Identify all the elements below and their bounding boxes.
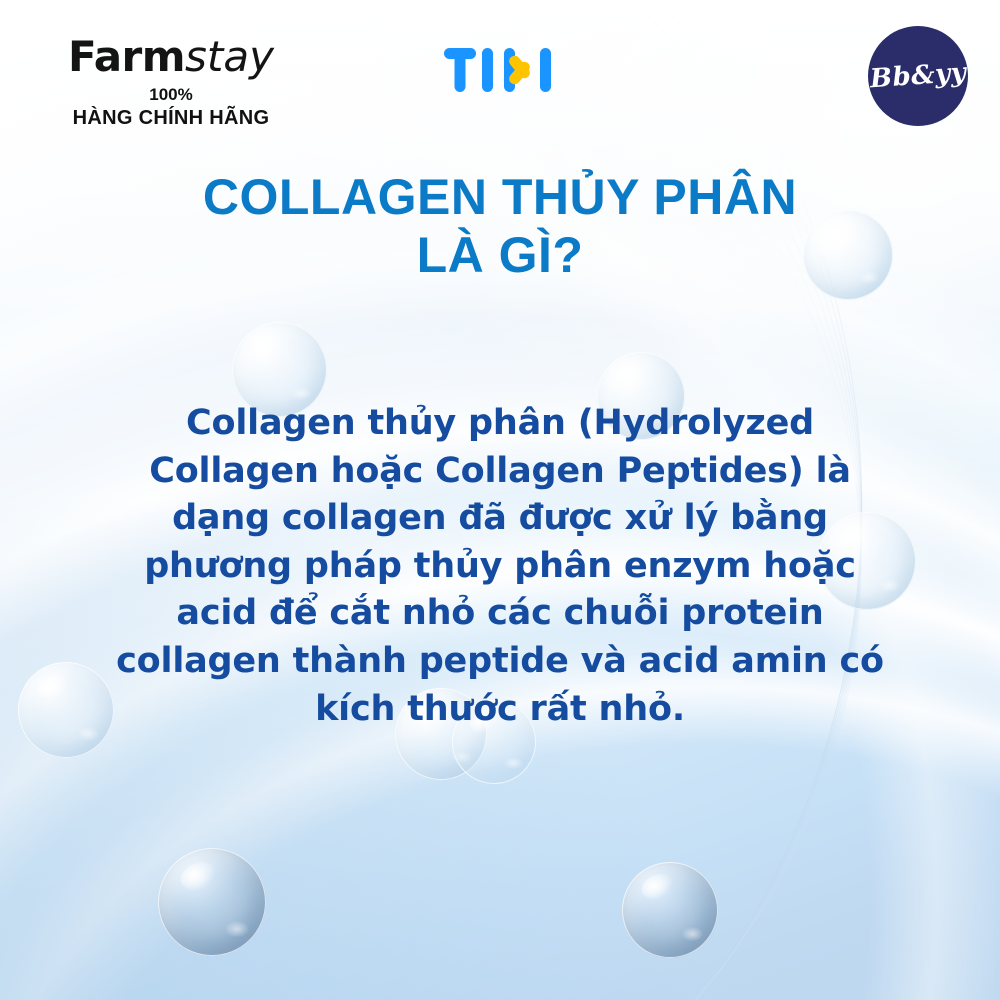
bubble-body-icon (158, 848, 266, 956)
bbyy-logo: Bb&yy (868, 26, 968, 126)
bubble-highlight-icon (176, 857, 220, 895)
bubble-rim-icon (622, 862, 718, 958)
farmstay-word-farm: Farm (68, 32, 185, 81)
body-line-3: dạng collagen đã được xử lý bằng (110, 495, 890, 543)
farmstay-subtitle: HÀNG CHÍNH HÃNG (36, 108, 306, 128)
header-logos: Farmstay 100% HÀNG CHÍNH HÃNG Bb&yy (0, 0, 1000, 150)
bubble-secondary-highlight-icon (452, 751, 472, 764)
farmstay-wordmark: Farmstay (36, 36, 306, 78)
poster-canvas: Farmstay 100% HÀNG CHÍNH HÃNG Bb&yy (0, 0, 1000, 1000)
page-title: COLLAGEN THỦY PHÂN LÀ GÌ? (0, 168, 1000, 284)
bubble-highlight-icon (248, 330, 286, 363)
bubble-secondary-highlight-icon (225, 921, 249, 936)
farmstay-percent: 100% (36, 86, 306, 103)
bubble-secondary-highlight-icon (682, 927, 703, 940)
page-title-line-2: LÀ GÌ? (0, 226, 1000, 284)
bubble-rim-icon (158, 848, 266, 956)
decorative-bubble-8 (622, 862, 718, 958)
page-title-line-1: COLLAGEN THỦY PHÂN (0, 168, 1000, 226)
body-line-2: Collagen hoặc Collagen Peptides) là (110, 448, 890, 496)
body-line-6: collagen thành peptide và acid amin có (110, 638, 890, 686)
bubble-secondary-highlight-icon (504, 757, 522, 769)
body-line-7: kích thước rất nhỏ. (110, 686, 890, 734)
body-line-4: phương pháp thủy phân enzym hoặc (110, 543, 890, 591)
bubble-body-icon (622, 862, 718, 958)
bubble-highlight-icon (612, 359, 648, 390)
body-line-5: acid để cắt nhỏ các chuỗi protein (110, 590, 890, 638)
decorative-bubble-7 (158, 848, 266, 956)
tiki-logo (444, 48, 556, 92)
body-line-1: Collagen thủy phân (Hydrolyzed (110, 400, 890, 448)
body-paragraph: Collagen thủy phân (Hydrolyzed Collagen … (0, 400, 1000, 733)
bubble-highlight-icon (638, 870, 677, 904)
farmstay-word-stay: stay (185, 32, 274, 81)
bbyy-logo-text: Bb&yy (869, 58, 967, 95)
bubble-secondary-highlight-icon (291, 387, 312, 400)
farmstay-logo: Farmstay 100% HÀNG CHÍNH HÃNG (36, 36, 306, 128)
tiki-logo-mark (444, 48, 556, 92)
